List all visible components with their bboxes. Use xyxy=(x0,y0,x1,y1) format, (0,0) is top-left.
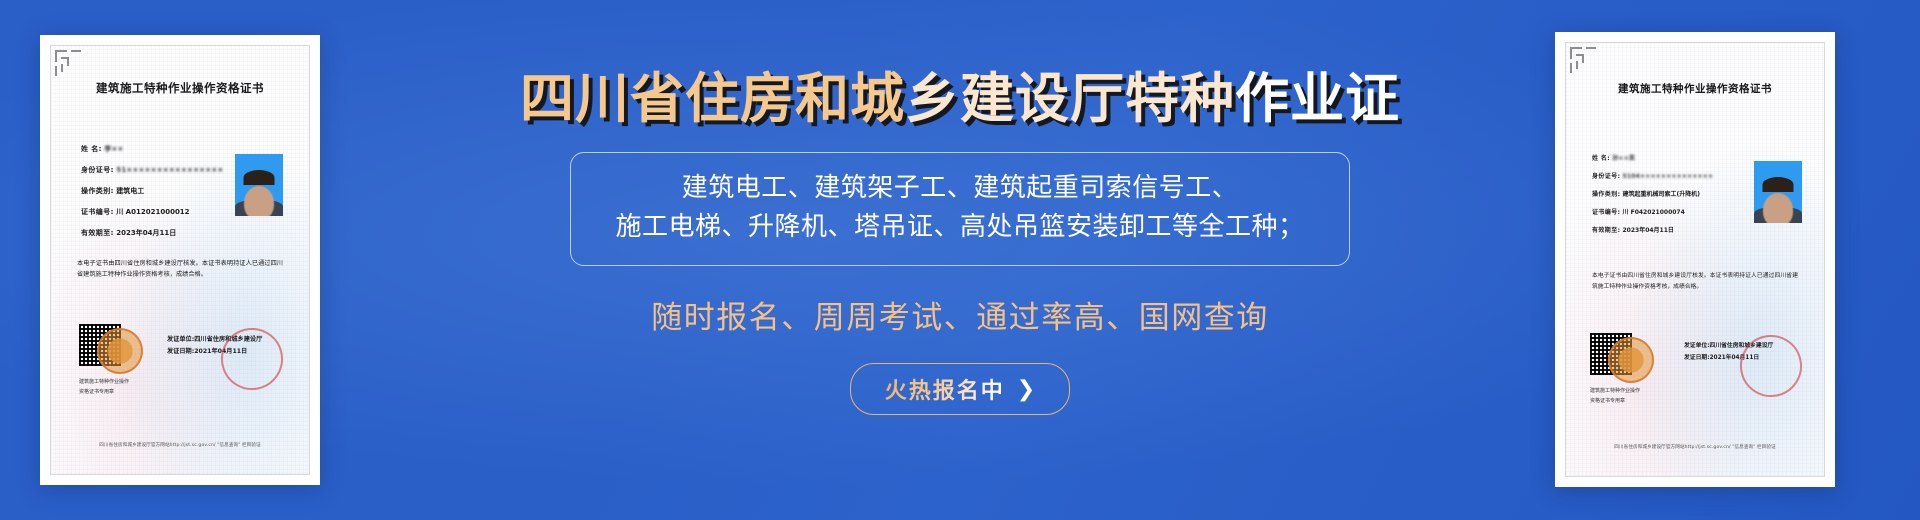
field-row: 身份证号: 51×××××××××××××××× xyxy=(81,165,223,175)
certificate-card-left: 建筑施工特种作业操作资格证书 姓 名: 李×× 身份证号: 51××××××××… xyxy=(40,35,320,485)
page-title: 四川省住房和城乡建设厅特种作业证 xyxy=(520,72,1400,126)
certificate-statement: 本电子证书由四川省住房和城乡建设厅核发。本证书表明持证人已通过四川省建筑施工特种… xyxy=(1592,271,1798,292)
promo-banner: 建筑施工特种作业操作资格证书 姓 名: 李×× 身份证号: 51××××××××… xyxy=(0,0,1920,520)
certificate-statement: 本电子证书由四川省住房和城乡建设厅核发。本证书表明持证人已通过四川省建筑施工特种… xyxy=(77,258,283,281)
ornament-corner-icon xyxy=(1570,47,1600,77)
field-row: 证书编号: 川 A012021000012 xyxy=(81,207,223,217)
enroll-now-label: 火热报名中 xyxy=(885,373,1005,405)
certificate-title: 建筑施工特种作业操作资格证书 xyxy=(51,80,309,96)
field-row: 身份证号: 5104×××××××××××××× xyxy=(1592,171,1713,180)
certificate-fields: 姓 名: 孙××英 身份证号: 5104×××××××××××××× 操作类别:… xyxy=(1592,153,1713,243)
headline-segment-orange: 四川省住房和城 xyxy=(520,67,905,130)
certificate-stamp-text: 建筑施工特种作业操作 资格证书专用章 xyxy=(1590,387,1640,406)
field-row: 姓 名: 李×× xyxy=(81,144,223,154)
headline-segment-white: 作业证 xyxy=(1235,67,1400,130)
field-row: 有效期至: 2023年04月11日 xyxy=(1592,225,1713,234)
certificate-stamp-text: 建筑施工特种作业操作 资格证书专用章 xyxy=(79,378,129,397)
field-row: 有效期至: 2023年04月11日 xyxy=(81,228,223,238)
headline-segment-cream: 乡建设厅特种 xyxy=(905,67,1235,130)
field-row: 操作类别: 建筑起重机械司索工(升降机) xyxy=(1592,189,1713,198)
seal-emblem-icon xyxy=(1608,337,1654,383)
certificate-footer: 四川省住房和城乡建设厅官方网站http://jst.sc.gov.cn/ "信息… xyxy=(1580,444,1810,450)
banner-center-content: 四川省住房和城乡建设厅特种作业证 建筑电工、建筑架子工、建筑起重司索信号工、 施… xyxy=(380,0,1540,520)
seal-emblem-icon xyxy=(97,328,143,374)
certificate-card-right: 建筑施工特种作业操作资格证书 姓 名: 孙××英 身份证号: 5104×××××… xyxy=(1555,32,1835,487)
certificate-photo xyxy=(1754,161,1802,223)
certificate-inner-right: 建筑施工特种作业操作资格证书 姓 名: 孙××英 身份证号: 5104×××××… xyxy=(1565,42,1825,477)
certificate-photo xyxy=(235,154,283,216)
slogan-text: 随时报名、周周考试、通过率高、国网查询 xyxy=(651,292,1269,337)
course-list-line-2: 施工电梯、升降机、塔吊证、高处吊篮安装卸工等全工种； xyxy=(615,208,1304,247)
certificate-inner-left: 建筑施工特种作业操作资格证书 姓 名: 李×× 身份证号: 51××××××××… xyxy=(50,45,310,475)
field-row: 姓 名: 孙××英 xyxy=(1592,153,1713,162)
enroll-now-button[interactable]: 火热报名中 ❯ xyxy=(850,363,1070,415)
certificate-footer: 四川省住房和城乡建设厅官方网站http://jst.sc.gov.cn/ "信息… xyxy=(65,442,295,448)
certificate-fields: 姓 名: 李×× 身份证号: 51×××××××××××××××× 操作类别: … xyxy=(81,144,223,249)
ornament-corner-icon xyxy=(55,50,85,80)
field-row: 证书编号: 川 F042021000074 xyxy=(1592,207,1713,216)
field-row: 操作类别: 建筑电工 xyxy=(81,186,223,196)
chevron-right-icon: ❯ xyxy=(1017,378,1035,400)
course-list-line-1: 建筑电工、建筑架子工、建筑起重司索信号工、 xyxy=(615,169,1304,208)
certificate-title: 建筑施工特种作业操作资格证书 xyxy=(1566,81,1824,96)
course-list-box: 建筑电工、建筑架子工、建筑起重司索信号工、 施工电梯、升降机、塔吊证、高处吊篮安… xyxy=(570,152,1349,266)
